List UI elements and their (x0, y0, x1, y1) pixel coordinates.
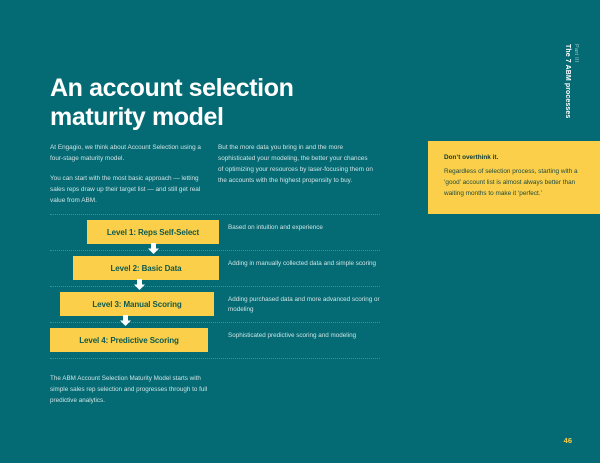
level-4-description: Sophisticated predictive scoring and mod… (228, 331, 388, 341)
level-2-box[interactable]: Level 2: Basic Data (73, 256, 219, 280)
diagram-caption: The ABM Account Selection Maturity Model… (50, 374, 210, 406)
running-head-chapter: The 7 ABM processes (562, 44, 572, 118)
intro-column-right: But the more data you bring in and the m… (218, 142, 373, 186)
level-3-description: Adding purchased data and more advanced … (228, 295, 388, 315)
running-head-part: Part III (572, 44, 580, 63)
callout-title: Don’t overthink it. (444, 154, 584, 161)
callout-body: Regardless of selection process, startin… (444, 166, 584, 199)
diagram-row-level-3: Level 3: Manual Scoring Adding purchased… (50, 286, 380, 322)
level-3-label: Level 3: Manual Scoring (92, 300, 181, 309)
diagram-row-level-2: Level 2: Basic Data Adding in manually c… (50, 250, 380, 286)
intro-right-paragraph-1: But the more data you bring in and the m… (218, 142, 373, 186)
page-number: 46 (564, 436, 572, 445)
diagram-row-level-4: Level 4: Predictive Scoring Sophisticate… (50, 322, 380, 358)
page-title-line-2: maturity model (50, 103, 380, 133)
arrow-down-icon (148, 243, 159, 254)
page-title: An account selection maturity model (50, 74, 380, 133)
intro-left-paragraph-1: At Engagio, we think about Account Selec… (50, 142, 202, 164)
level-1-description: Based on intuition and experience (228, 223, 388, 233)
intro-left-paragraph-2: You can start with the most basic approa… (50, 173, 202, 206)
maturity-model-diagram: Level 1: Reps Self-Select Based on intui… (50, 214, 380, 359)
intro-column-left: At Engagio, we think about Account Selec… (50, 142, 202, 206)
level-2-label: Level 2: Basic Data (110, 264, 181, 273)
level-4-label: Level 4: Predictive Scoring (79, 336, 179, 345)
level-4-box[interactable]: Level 4: Predictive Scoring (50, 328, 208, 352)
diagram-bottom-divider (50, 358, 380, 359)
callout-box: Don’t overthink it. Regardless of select… (428, 141, 600, 214)
level-2-description: Adding in manually collected data and si… (228, 259, 388, 269)
page-canvas: The 7 ABM processes Part III An account … (0, 0, 600, 463)
arrow-down-icon (120, 315, 131, 326)
level-1-box[interactable]: Level 1: Reps Self-Select (87, 220, 219, 244)
level-1-label: Level 1: Reps Self-Select (107, 228, 199, 237)
level-3-box[interactable]: Level 3: Manual Scoring (60, 292, 214, 316)
page-title-line-1: An account selection (50, 74, 380, 104)
diagram-row-level-1: Level 1: Reps Self-Select Based on intui… (50, 214, 380, 250)
arrow-down-icon (134, 279, 145, 290)
